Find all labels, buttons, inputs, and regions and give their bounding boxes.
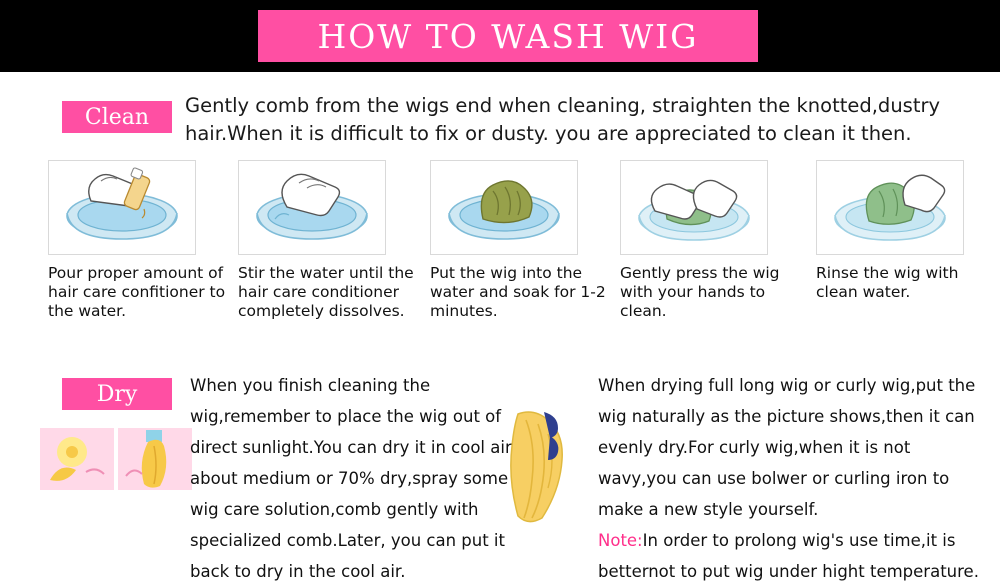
clean-badge-label: Clean bbox=[85, 105, 149, 130]
clean-step-2: Stir the water until the hair care condi… bbox=[238, 160, 416, 321]
clean-intro-text: Gently comb from the wigs end when clean… bbox=[185, 92, 975, 148]
bowl-with-stirring-hand-icon bbox=[238, 160, 386, 255]
clean-section-badge: Clean bbox=[62, 101, 172, 133]
clean-step-3-caption: Put the wig into the water and soak for … bbox=[430, 264, 615, 321]
pink-wig-photo-icon bbox=[118, 428, 192, 490]
clean-step-3: Put the wig into the water and soak for … bbox=[430, 160, 608, 321]
dry-right-paragraph: When drying full long wig or curly wig,p… bbox=[598, 376, 975, 519]
clean-step-1: Pour proper amount of hair care confitio… bbox=[48, 160, 226, 321]
dry-section-badge: Dry bbox=[62, 378, 172, 410]
clean-step-5-caption: Rinse the wig with clean water. bbox=[816, 264, 1000, 302]
header-title-banner: HOW TO WASH WIG bbox=[258, 10, 758, 62]
dry-right-text: When drying full long wig or curly wig,p… bbox=[598, 370, 990, 587]
bowl-with-wig-soaking-icon bbox=[430, 160, 578, 255]
clean-steps-row: Pour proper amount of hair care confitio… bbox=[0, 160, 1000, 320]
bowl-with-conditioner-bottle-icon bbox=[48, 160, 196, 255]
dry-thumbnails bbox=[40, 428, 192, 490]
bowl-rinsing-wig-icon bbox=[816, 160, 964, 255]
note-text: In order to prolong wig's use time,it is… bbox=[598, 531, 979, 581]
pink-flower-photo-icon bbox=[40, 428, 114, 490]
page-title: HOW TO WASH WIG bbox=[317, 17, 698, 56]
bowl-with-pressing-hands-icon bbox=[620, 160, 768, 255]
clean-step-5: Rinse the wig with clean water. bbox=[816, 160, 994, 302]
clean-step-1-caption: Pour proper amount of hair care confitio… bbox=[48, 264, 233, 321]
note-label: Note: bbox=[598, 531, 643, 550]
blonde-hanging-hair-icon bbox=[500, 408, 610, 528]
dry-left-text: When you finish cleaning the wig,remembe… bbox=[190, 370, 540, 587]
clean-step-4: Gently press the wig with your hands to … bbox=[620, 160, 798, 321]
clean-step-4-caption: Gently press the wig with your hands to … bbox=[620, 264, 805, 321]
clean-step-2-caption: Stir the water until the hair care condi… bbox=[238, 264, 423, 321]
dry-badge-label: Dry bbox=[97, 382, 138, 407]
